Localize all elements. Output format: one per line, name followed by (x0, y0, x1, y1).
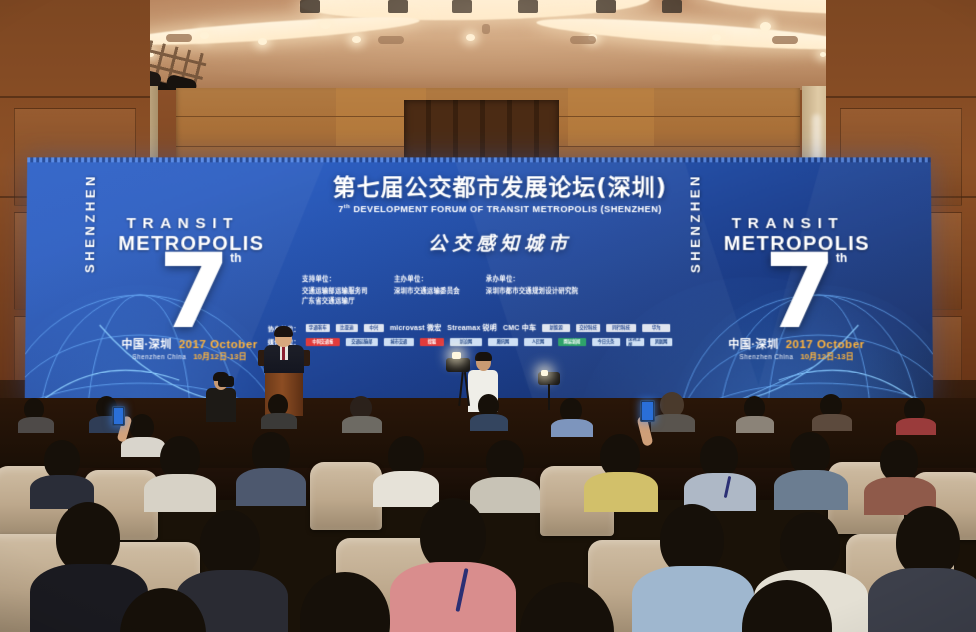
logo-city-cn: 中国·深圳 (121, 339, 171, 352)
audience-attendee-foreground (742, 580, 838, 632)
audience-attendee (896, 506, 966, 584)
media-logo-row: 媒体单位： 中国交通报 交通运输部 城市交通 搜狐 新浪网 腾讯网 人民网 网易… (268, 337, 739, 346)
audience-attendee-with-phone (130, 414, 158, 444)
attendee-shoulders (470, 414, 508, 431)
title-ordinal-suffix: th (344, 205, 351, 211)
partner-logo: CMC 中车 (503, 323, 536, 333)
phone-screen (114, 408, 123, 424)
audience-attendee (744, 396, 768, 422)
organizer-group: 承办单位： 深圳市都市交通规划设计研究院 (486, 275, 578, 307)
logo-date-block: 中国·深圳 2017 October Shenzhen China 10月12日… (716, 339, 876, 362)
logo-ordinal-suffix: th (230, 251, 241, 265)
audience-attendee-foreground (120, 588, 212, 632)
videographer-hair (475, 352, 492, 361)
forum-logo-left: TRANSIT METROPOLIS SHENZHEN 7 th 中国·深圳 2… (83, 187, 274, 377)
attendee-head (200, 510, 260, 578)
audience-attendee (268, 394, 290, 418)
logo-date-block: 中国·深圳 2017 October Shenzhen China 10月12日… (109, 339, 269, 362)
photo-camera (218, 376, 234, 387)
media-logo: 新浪网 (450, 338, 482, 346)
audience-attendee (478, 394, 502, 420)
forum-subtitle-cn: 公交感知城市 (302, 229, 698, 256)
attendee-shoulders (651, 414, 695, 432)
attendee-head (780, 512, 840, 578)
media-logo: 人民网 (524, 338, 552, 346)
title-en-text: DEVELOPMENT FORUM OF TRANSIT METROPOLIS … (353, 205, 661, 215)
logo-year-month: 2017 October (179, 339, 258, 352)
audience-attendee (560, 398, 584, 424)
logo-ordinal-suffix: th (836, 251, 847, 265)
forum-title-cn: 第七届公交都市发展论坛(深圳) (302, 175, 697, 201)
attendee-head (420, 498, 486, 572)
audience-attendee (252, 432, 294, 478)
logo-numeral-seven: 7 (764, 239, 837, 343)
audience-attendee (780, 512, 846, 584)
attendee-head (120, 588, 206, 632)
audience-attendee (420, 498, 492, 578)
logo-city-en: Shenzhen China (739, 354, 793, 361)
audience-attendee (904, 398, 928, 424)
logo-date-cn: 10月12日-13日 (193, 352, 247, 361)
media-logo: 凤凰网 (650, 338, 672, 346)
media-logo: 网易新闻 (558, 338, 586, 346)
attendee-head (486, 440, 524, 482)
partner-logo: 同行科技 (606, 324, 636, 332)
chair-back (310, 462, 382, 530)
attendee-shoulders (812, 414, 852, 431)
media-logo: 中国交通报 (306, 338, 340, 346)
audience-attendee (880, 440, 922, 486)
audience-attendee (44, 440, 84, 484)
media-logo: 交通运输部 (346, 338, 378, 346)
presenter-at-podium (262, 328, 306, 370)
media-logo: 城市交通 (384, 338, 414, 346)
attendee-shoulders (896, 418, 936, 435)
attendee-shoulders (144, 474, 216, 512)
smartphone-camera (640, 400, 655, 422)
media-logo: 腾讯网 (488, 338, 518, 346)
screen-top-edge (27, 157, 931, 162)
camera-light (452, 352, 461, 359)
partner-logo: 华为 (642, 324, 670, 332)
partner-logo: 交控科技 (576, 324, 600, 332)
logo-date-cn: 10月12日-13日 (800, 352, 854, 361)
audience-attendee (350, 396, 374, 422)
audience-attendee (160, 436, 204, 484)
attendee-shoulders (18, 417, 54, 433)
audience-attendee (700, 436, 742, 482)
logo-city-en: Shenzhen China (132, 354, 186, 361)
attendee-head (388, 436, 424, 476)
audience-attendee (56, 502, 126, 580)
attendee-shoulders (736, 416, 774, 433)
screen-title-block: 第七届公交都市发展论坛(深圳) 7th DEVELOPMENT FORUM OF… (302, 175, 698, 255)
audience-attendee-foreground (300, 572, 396, 632)
camera-light (541, 370, 548, 376)
partner-logo: Streamax 锐明 (447, 323, 497, 333)
attendee-shoulders (551, 419, 593, 437)
audience-attendee-foreground (520, 582, 620, 632)
conference-hall-photo: TRANSIT METROPOLIS SHENZHEN 7 th 中国·深圳 2… (0, 0, 976, 632)
organizer-heading: 主办单位： (394, 275, 460, 285)
audience-seating (0, 392, 976, 632)
attendee-shoulders (236, 468, 306, 506)
media-logo: 搜狐 (420, 338, 444, 346)
attendee-shoulders (342, 416, 382, 433)
audience-attendee (388, 436, 428, 480)
attendee-head (742, 580, 832, 632)
audience-attendee (790, 432, 834, 480)
logo-year-month: 2017 October (786, 339, 865, 352)
attendee-shoulders (584, 472, 658, 512)
attendee-head (520, 582, 614, 632)
attendee-head (44, 440, 80, 480)
audience-attendee (486, 440, 528, 486)
organizer-list: 支持单位： 交通运输部运输服务司 广东省交通运输厅 主办单位： 深圳市交通运输委… (302, 275, 722, 307)
organizer-name: 广东省交通运输厅 (302, 297, 368, 307)
attendee-head (700, 436, 738, 478)
attendee-head (300, 572, 390, 632)
attendee-shoulders (390, 562, 516, 632)
partner-logo: 宇通客车 (306, 324, 330, 332)
audience-attendee (600, 434, 644, 482)
smartphone-camera (112, 406, 125, 426)
audience-attendee (660, 392, 686, 420)
organizer-group: 主办单位： 深圳市交通运输委员会 (394, 275, 460, 307)
media-logo: 深圳卫视 (626, 338, 644, 346)
attendee-shoulders (632, 566, 754, 632)
presenter-hair (274, 326, 293, 337)
attendee-shoulders (774, 470, 848, 510)
presenter-tie (282, 347, 285, 360)
logo-shenzhen-text: SHENZHEN (82, 173, 98, 273)
organizer-heading: 支持单位： (302, 275, 368, 285)
phone-screen (642, 402, 653, 420)
organizer-group: 支持单位： 交通运输部运输服务司 广东省交通运输厅 (302, 275, 368, 307)
partner-logo: 中兴 (364, 324, 384, 332)
pilaster-highlight (812, 114, 821, 160)
partner-logo: microvast 微宏 (390, 323, 441, 333)
partner-logo: 新能源 (542, 324, 570, 332)
attendee-shoulders (261, 413, 297, 429)
forum-title-en: 7th DEVELOPMENT FORUM OF TRANSIT METROPO… (302, 205, 697, 215)
organizer-name: 深圳市都市交通规划设计研究院 (486, 287, 578, 297)
video-camera (446, 358, 470, 372)
media-logo: 今日头条 (592, 338, 620, 346)
organizer-name: 深圳市交通运输委员会 (394, 287, 460, 297)
attendee-head (880, 440, 918, 482)
logo-numeral-seven: 7 (158, 239, 231, 343)
audience-attendee (200, 510, 266, 584)
organizer-name: 交通运输部运输服务司 (302, 287, 368, 297)
partner-logo: 比亚迪 (336, 324, 358, 332)
organizer-heading: 承办单位： (486, 275, 578, 285)
attendee-shoulders (121, 437, 165, 457)
attendee-shoulders (868, 568, 976, 632)
audience-attendee (24, 398, 48, 424)
co-organizer-logo-row: 协办单位： 宇通客车 比亚迪 中兴 microvast 微宏 Streamax … (268, 323, 739, 333)
audience-attendee (820, 394, 844, 420)
audience-attendee (660, 504, 730, 582)
